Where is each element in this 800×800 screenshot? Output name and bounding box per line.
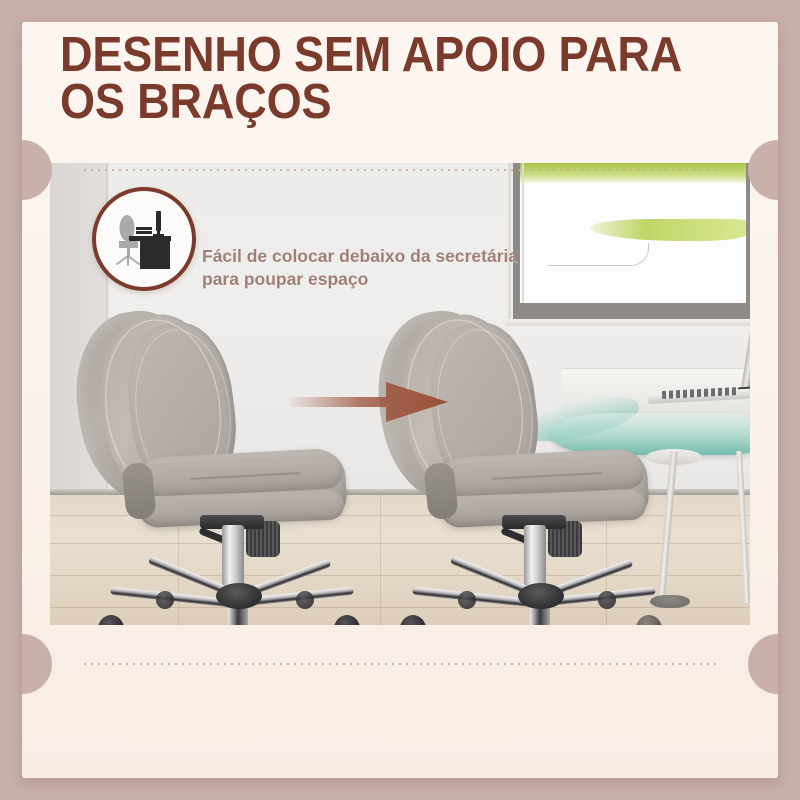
floor-plank-line [50, 543, 750, 544]
chair-gas-cylinder [222, 525, 244, 591]
notch-bottom-left [22, 634, 52, 694]
right-arrow-icon [290, 378, 450, 426]
desk-glass-top [550, 413, 750, 455]
notch-top-left [22, 140, 52, 200]
window-sill [505, 319, 750, 326]
chair-base-hub [518, 583, 564, 609]
chair-caster [598, 591, 616, 609]
chair-base-hub [216, 583, 262, 609]
ticket-card: DESENHO SEM APOIO PARA OS BRAÇOS [22, 22, 778, 778]
badge-circle [92, 187, 196, 291]
chair-caster [458, 591, 476, 609]
chair-caster [296, 591, 314, 609]
window-lawn-upper [520, 163, 746, 183]
feature-caption: Fácil de colocar debaixo da secretária p… [202, 245, 602, 292]
notch-bottom-right [748, 634, 778, 694]
chair-caster [156, 591, 174, 609]
notch-top-right [748, 140, 778, 200]
perforation-line-top [80, 169, 720, 171]
product-photo: Fácil de colocar debaixo da secretária p… [50, 163, 750, 625]
floor-plank-line [50, 607, 750, 608]
floor-plank-seam [380, 495, 381, 625]
desk-foot [650, 595, 690, 608]
floor-plank-line [50, 575, 750, 576]
perforation-line-bottom [80, 663, 720, 665]
desk-chair-computer-icon [107, 202, 181, 276]
page-title: DESENHO SEM APOIO PARA OS BRAÇOS [60, 32, 695, 125]
chair-gas-cylinder [524, 525, 546, 591]
